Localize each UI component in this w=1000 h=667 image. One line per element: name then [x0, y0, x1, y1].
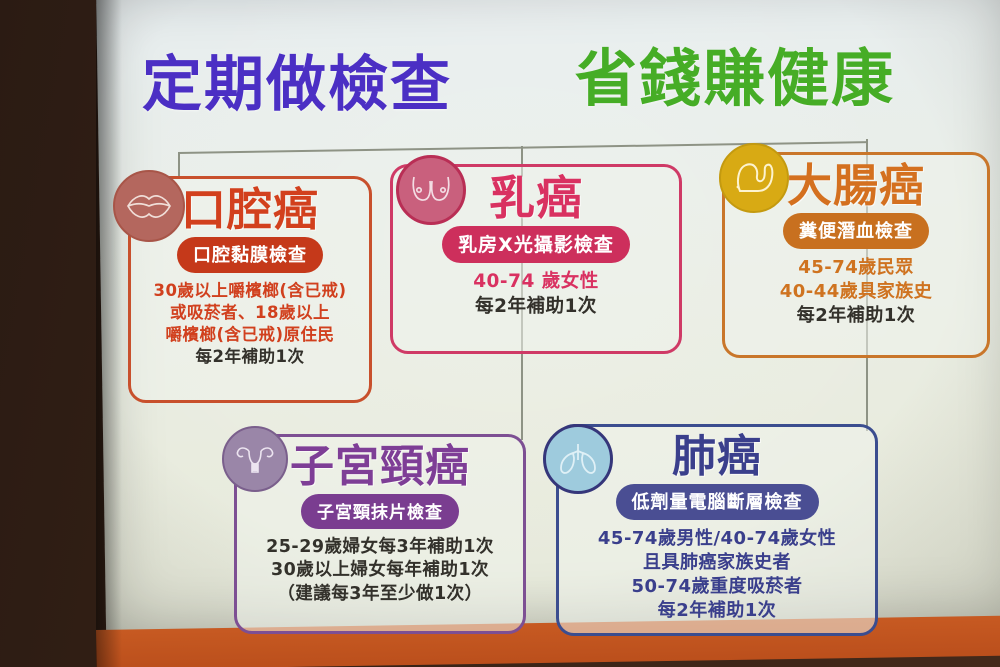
card-cervix-line-1: 25-29歲婦女每3年補助1次	[249, 536, 511, 559]
card-cervix-line-3: （建議每3年至少做1次）	[249, 583, 511, 606]
card-cervix-header: 子宮頸癌	[249, 445, 511, 489]
card-lung-line-1: 45-74歲男性/40-74歲女性	[571, 527, 863, 551]
card-oral-exam-pill: 口腔黏膜檢查	[177, 237, 323, 273]
card-oral-line-3: 嚼檳榔(含已戒)原住民	[143, 324, 357, 346]
card-breast-line-2: 每2年補助1次	[405, 295, 667, 320]
card-lung-line-3: 50-74歲重度吸菸者	[571, 575, 863, 599]
headline-right: 省錢賺健康	[575, 28, 895, 118]
card-oral-detail-lines: 30歲以上嚼檳榔(含已戒) 或吸菸者、18歲以上 嚼檳榔(含已戒)原住民 每2年…	[143, 280, 357, 368]
card-breast-title: 乳癌	[489, 175, 583, 221]
card-lung-header: 肺癌	[571, 435, 863, 479]
card-cervix-detail-lines: 25-29歲婦女每3年補助1次 30歲以上婦女每年補助1次 （建議每3年至少做1…	[249, 536, 511, 606]
colon-icon	[719, 143, 789, 213]
card-colon-line-1: 45-74歲民眾	[737, 256, 975, 280]
uterus-icon	[222, 426, 288, 492]
breast-icon	[396, 155, 466, 225]
card-oral-title: 口腔癌	[181, 187, 319, 232]
card-colon-detail-lines: 45-74歲民眾 40-44歲具家族史 每2年補助1次	[737, 256, 975, 328]
card-colon-title: 大腸癌	[787, 163, 925, 208]
headline-left: 定期做檢查	[142, 36, 452, 123]
card-breast-detail-lines: 40-74 歲女性 每2年補助1次	[405, 270, 667, 320]
card-lung-line-2: 且具肺癌家族史者	[571, 551, 863, 575]
card-oral-line-1: 30歲以上嚼檳榔(含已戒)	[143, 280, 357, 302]
card-colon-line-2: 40-44歲具家族史	[737, 280, 975, 304]
card-breast-line-1: 40-74 歲女性	[405, 270, 667, 295]
card-cervix-line-2: 30歲以上婦女每年補助1次	[249, 559, 511, 582]
card-lung-line-4: 每2年補助1次	[571, 599, 863, 623]
card-lung-detail-lines: 45-74歲男性/40-74歲女性 且具肺癌家族史者 50-74歲重度吸菸者 每…	[571, 527, 863, 623]
screen-left-shadow	[96, 0, 122, 667]
card-breast-exam-pill: 乳房X光攝影檢查	[442, 226, 630, 263]
card-cervix-exam-pill: 子宮頸抹片檢查	[301, 494, 459, 529]
card-cervix-title: 子宮頸癌	[290, 445, 470, 489]
card-lung-title: 肺癌	[672, 435, 762, 479]
card-oral-line-2: 或吸菸者、18歲以上	[143, 302, 357, 324]
screenshot-root: 定期做檢查 省錢賺健康 口腔癌 口腔黏膜檢查 30歲以上嚼檳榔(含已戒) 或吸菸…	[0, 0, 1000, 667]
card-colon-line-3: 每2年補助1次	[737, 304, 975, 328]
headline-row: 定期做檢查 省錢賺健康	[130, 36, 1000, 116]
lungs-icon	[543, 424, 613, 494]
card-lung-exam-pill: 低劑量電腦斷層檢查	[616, 484, 819, 520]
card-oral-line-4: 每2年補助1次	[143, 346, 357, 368]
card-colon-exam-pill: 糞便潛血檢查	[783, 213, 929, 249]
lips-icon	[113, 170, 185, 242]
connector-stem-oral	[178, 152, 180, 178]
